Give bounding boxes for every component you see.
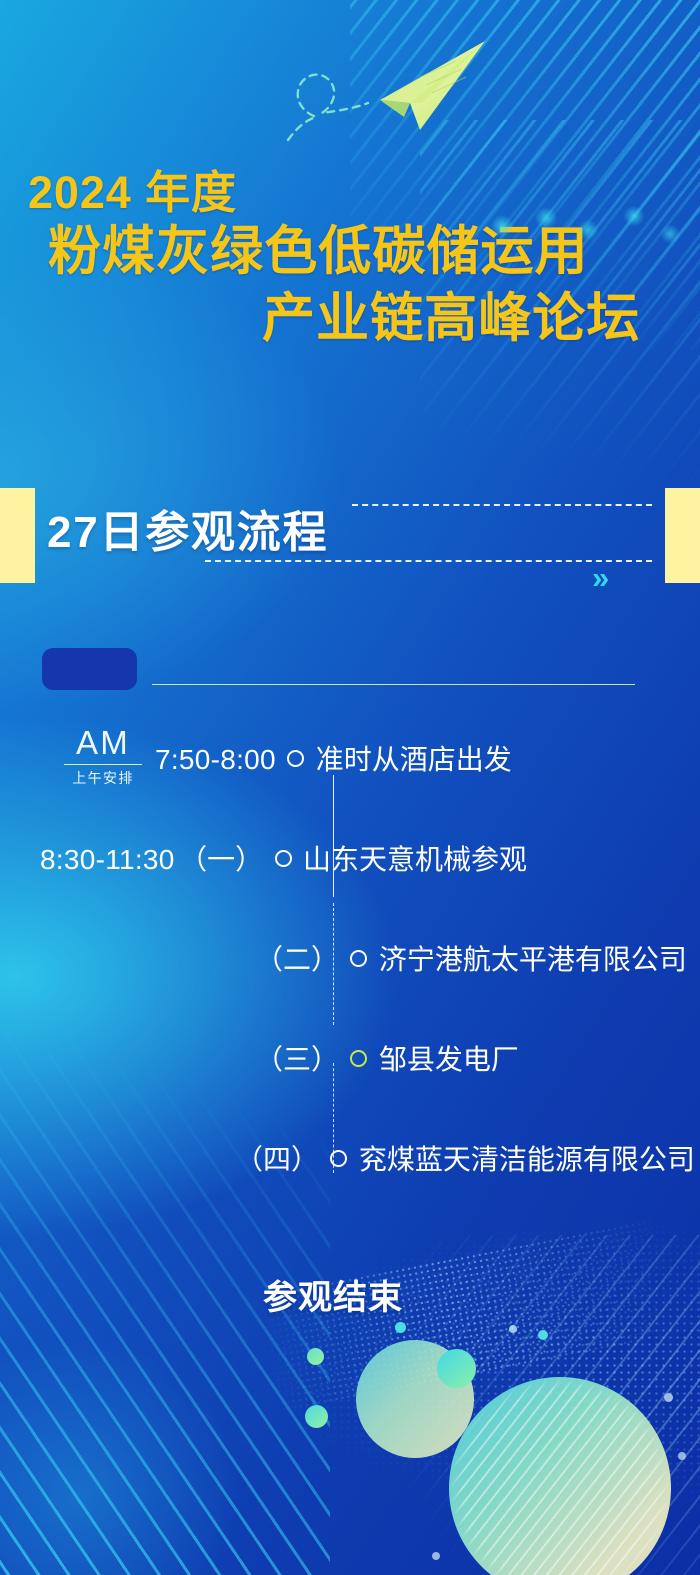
end-label: 参观结束 xyxy=(263,1270,403,1319)
glow-bottom-left xyxy=(0,1335,240,1575)
schedule-label: 兖煤蓝天清洁能源有限公司 xyxy=(359,1144,695,1175)
schedule-label: 济宁港航太平港有限公司 xyxy=(379,944,687,975)
title-line-3: 产业链高峰论坛 xyxy=(0,286,700,353)
decor-dot xyxy=(538,1330,548,1340)
dashed-rule-top xyxy=(352,504,652,506)
schedule-index: （三） xyxy=(255,1044,339,1075)
paper-plane-decoration xyxy=(270,25,520,150)
decor-dot xyxy=(432,1552,440,1560)
section-title: 27日参观流程 xyxy=(47,496,328,560)
period-badge xyxy=(42,648,137,690)
schedule-label: 准时从酒店出发 xyxy=(316,744,512,775)
bullet-circle-icon xyxy=(330,1150,347,1167)
section-header: 27日参观流程 » xyxy=(0,488,700,588)
decor-circle-large xyxy=(449,1377,671,1575)
title-line-1: 2024 年度 xyxy=(0,166,700,219)
paper-plane-icon xyxy=(270,25,520,150)
schedule-time: 7:50-8:00 xyxy=(155,744,276,775)
decor-dot xyxy=(509,1325,517,1333)
decor-dot xyxy=(307,1348,324,1365)
title-line-2: 粉煤灰绿色低碳储运用 xyxy=(0,219,700,286)
badge-divider-line xyxy=(152,684,635,685)
chevron-right-icon: » xyxy=(592,562,605,593)
period-abbr: AM xyxy=(48,726,158,761)
schedule-time: 8:30-11:30 xyxy=(40,844,175,875)
schedule-row: （四） 兖煤蓝天清洁能源有限公司 xyxy=(235,1138,695,1178)
decor-dot xyxy=(395,1322,406,1333)
decor-dot xyxy=(678,1452,686,1460)
bullet-circle-icon xyxy=(275,850,292,867)
bullet-circle-icon xyxy=(350,950,367,967)
dashed-rule-bottom xyxy=(205,560,652,562)
schedule-index: （二） xyxy=(255,944,339,975)
timeline-connector-solid xyxy=(333,775,334,897)
bullet-circle-icon xyxy=(287,750,304,767)
accent-bar-right xyxy=(665,488,700,583)
schedule-row: （三） 邹县发电厂 xyxy=(255,1038,519,1078)
schedule-label: 邹县发电厂 xyxy=(379,1044,519,1075)
schedule-row: 8:30-11:30 （一） 山东天意机械参观 xyxy=(40,838,527,878)
schedule-row: 7:50-8:00 准时从酒店出发 xyxy=(155,738,512,778)
schedule-index: （四） xyxy=(235,1144,319,1175)
decor-dot xyxy=(664,1393,673,1402)
poster-title-block: 2024 年度 粉煤灰绿色低碳储运用 产业链高峰论坛 xyxy=(0,166,700,353)
schedule-label: 山东天意机械参观 xyxy=(303,844,527,875)
schedule-index: （一） xyxy=(179,844,263,875)
schedule-row: （二） 济宁港航太平港有限公司 xyxy=(255,938,687,978)
decor-dot xyxy=(305,1405,328,1428)
period-rule xyxy=(64,764,142,765)
period-label-block: AM 上午安排 xyxy=(48,726,158,788)
period-sub-label: 上午安排 xyxy=(48,768,158,788)
accent-bar-left xyxy=(0,488,35,583)
poster-root: 2024 年度 粉煤灰绿色低碳储运用 产业链高峰论坛 27日参观流程 » AM … xyxy=(0,0,700,1575)
bullet-circle-icon-highlighted xyxy=(350,1050,367,1067)
decor-circle-small xyxy=(437,1349,476,1388)
badge-row xyxy=(0,648,700,698)
